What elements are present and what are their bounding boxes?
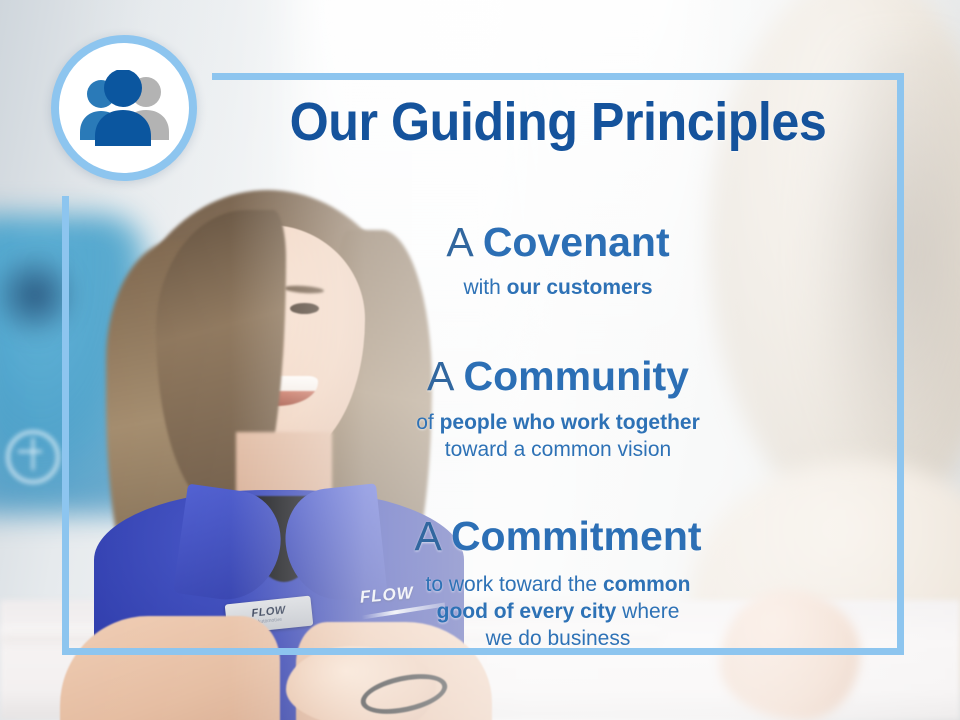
- principle-commitment-subtext: to work toward the common good of every …: [212, 572, 904, 653]
- principle-keyword: Community: [463, 353, 689, 399]
- principle-community-heading: A Community: [212, 354, 904, 399]
- vw-emblem-icon: [6, 430, 60, 484]
- subtext-line: we do business: [212, 626, 904, 653]
- principle-community: A Community of people who work together …: [212, 314, 904, 464]
- principle-article: A: [414, 513, 450, 559]
- principle-covenant: A Covenant with our customers: [212, 162, 904, 302]
- people-group-medallion: [51, 35, 197, 181]
- principle-covenant-subtext: with our customers: [212, 275, 904, 302]
- principle-commitment-heading: A Commitment: [212, 514, 904, 559]
- subtext-line: good of every city where: [212, 599, 904, 626]
- principle-covenant-heading: A Covenant: [212, 220, 904, 265]
- subtext-line: with our customers: [212, 275, 904, 302]
- page-title: Our Guiding Principles: [236, 73, 880, 150]
- subtext-line: of people who work together: [212, 410, 904, 437]
- subtext-line: toward a common vision: [212, 437, 904, 464]
- principle-keyword: Commitment: [451, 513, 702, 559]
- banner-content: Our Guiding Principles A Covenant with o…: [212, 73, 904, 655]
- principle-keyword: Covenant: [483, 219, 670, 265]
- principle-article: A: [446, 219, 482, 265]
- people-group-icon: [72, 70, 176, 146]
- principle-article: A: [427, 353, 463, 399]
- principle-community-subtext: of people who work together toward a com…: [212, 410, 904, 464]
- principle-commitment: A Commitment to work toward the common g…: [212, 476, 904, 653]
- subtext-line: to work toward the common: [212, 572, 904, 599]
- guiding-principles-banner: FLOW Automotive FLOW: [0, 0, 960, 720]
